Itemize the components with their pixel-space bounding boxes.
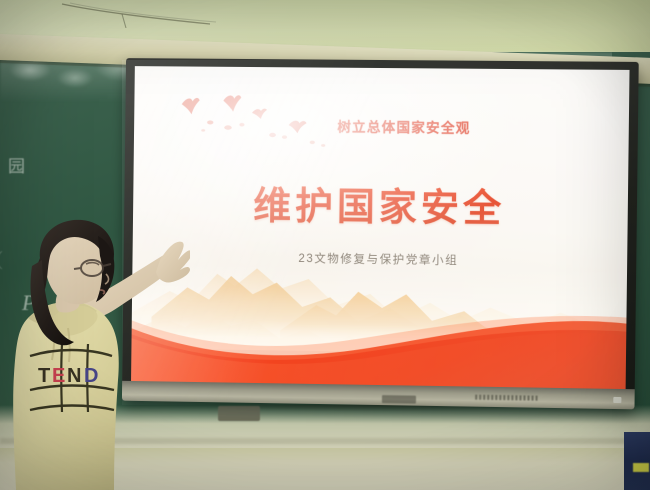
corner-object (624, 432, 650, 490)
presentation-slide[interactable]: 树立总体国家安全观 维护国家安全 23文物修复与保护党章小组 (131, 66, 630, 394)
presenter-figure: T E N D (10, 214, 190, 490)
display-ir-sensor-icon (613, 397, 621, 403)
display-mount-bracket (218, 406, 260, 421)
slide-header-text: 树立总体国家安全观 (337, 116, 598, 138)
svg-text:T: T (38, 365, 50, 387)
classroom-scene: 园 Pg ( (0, 0, 650, 490)
corner-object-highlight (633, 463, 649, 472)
svg-text:E: E (52, 365, 65, 387)
birds-flock-graphic (173, 94, 332, 153)
hoodie (13, 302, 119, 490)
ceiling-wire (60, 2, 270, 28)
interactive-display[interactable]: 树立总体国家安全观 维护国家安全 23文物修复与保护党章小组 (122, 58, 639, 409)
slide-title: 维护国家安全 (133, 173, 628, 234)
svg-text:N: N (67, 365, 81, 387)
svg-text:D: D (84, 365, 98, 387)
display-brand-logo (475, 395, 537, 401)
display-label-tag (382, 395, 416, 404)
red-wave-graphic (131, 295, 627, 395)
chalk-mark-3: ( (0, 248, 3, 271)
chalk-mark-1: 园 (8, 152, 25, 177)
